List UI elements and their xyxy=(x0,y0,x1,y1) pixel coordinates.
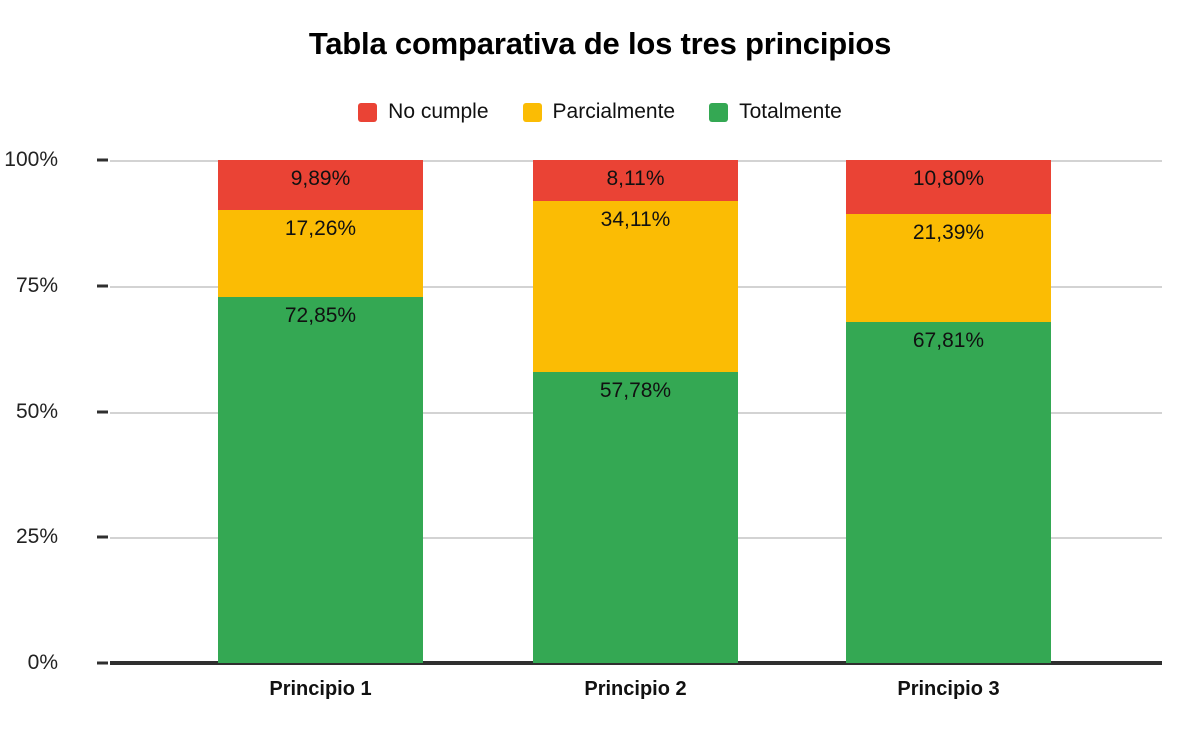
bar-segment-no-cumple-3[interactable]: 10,80% xyxy=(846,160,1051,214)
x-axis-label-3: Principio 3 xyxy=(846,678,1051,701)
bar-segment-totalmente-2[interactable]: 57,78% xyxy=(533,372,738,663)
plot-area: 0%25%50%75%100% 9,89%17,26%72,85%Princip… xyxy=(110,160,1162,663)
bar-segment-parcialmente-2[interactable]: 34,11% xyxy=(533,201,738,373)
bar-segment-no-cumple-2[interactable]: 8,11% xyxy=(533,160,738,201)
bar-segment-totalmente-3[interactable]: 67,81% xyxy=(846,322,1051,663)
y-tick-mark-75 xyxy=(97,284,108,287)
legend-label-totalmente: Totalmente xyxy=(739,100,842,124)
y-tick-mark-25 xyxy=(97,536,108,539)
bar-segment-totalmente-1[interactable]: 72,85% xyxy=(218,297,423,663)
page-title: Tabla comparativa de los tres principios xyxy=(0,26,1200,62)
bar-value-label: 21,39% xyxy=(846,221,1051,245)
bar-segment-no-cumple-1[interactable]: 9,89% xyxy=(218,160,423,210)
bar-value-label: 57,78% xyxy=(533,379,738,403)
bar-stack-2: 8,11%34,11%57,78% xyxy=(533,160,738,663)
bar-stack-3: 10,80%21,39%67,81% xyxy=(846,160,1051,663)
x-axis-label-1: Principio 1 xyxy=(218,678,423,701)
bar-value-label: 67,81% xyxy=(846,329,1051,353)
bar-value-label: 10,80% xyxy=(846,167,1051,191)
legend-label-no-cumple: No cumple xyxy=(388,100,488,124)
legend-label-parcialmente: Parcialmente xyxy=(553,100,676,124)
y-tick-label-0: 0% xyxy=(0,651,58,675)
bar-value-label: 17,26% xyxy=(218,217,423,241)
legend-swatch-green xyxy=(709,103,728,122)
y-tick-mark-0 xyxy=(97,662,108,665)
legend-item-totalmente[interactable]: Totalmente xyxy=(709,100,842,124)
y-tick-label-50: 50% xyxy=(0,400,58,424)
y-tick-label-25: 25% xyxy=(0,525,58,549)
y-tick-label-100: 100% xyxy=(0,148,58,172)
bar-segment-parcialmente-3[interactable]: 21,39% xyxy=(846,214,1051,322)
legend-item-parcialmente[interactable]: Parcialmente xyxy=(523,100,676,124)
bar-stack-1: 9,89%17,26%72,85% xyxy=(218,160,423,663)
bar-group-2: 8,11%34,11%57,78%Principio 2 xyxy=(533,160,738,663)
x-axis-label-2: Principio 2 xyxy=(533,678,738,701)
bar-value-label: 34,11% xyxy=(533,208,738,232)
y-tick-mark-100 xyxy=(97,159,108,162)
legend-item-no-cumple[interactable]: No cumple xyxy=(358,100,488,124)
y-tick-label-75: 75% xyxy=(0,274,58,298)
legend-swatch-red xyxy=(358,103,377,122)
bar-value-label: 9,89% xyxy=(218,167,423,191)
y-tick-mark-50 xyxy=(97,410,108,413)
bar-value-label: 8,11% xyxy=(533,167,738,191)
bar-group-3: 10,80%21,39%67,81%Principio 3 xyxy=(846,160,1051,663)
chart-legend: No cumple Parcialmente Totalmente xyxy=(0,100,1200,124)
bar-value-label: 72,85% xyxy=(218,304,423,328)
bar-group-1: 9,89%17,26%72,85%Principio 1 xyxy=(218,160,423,663)
legend-swatch-yellow xyxy=(523,103,542,122)
bar-segment-parcialmente-1[interactable]: 17,26% xyxy=(218,210,423,297)
